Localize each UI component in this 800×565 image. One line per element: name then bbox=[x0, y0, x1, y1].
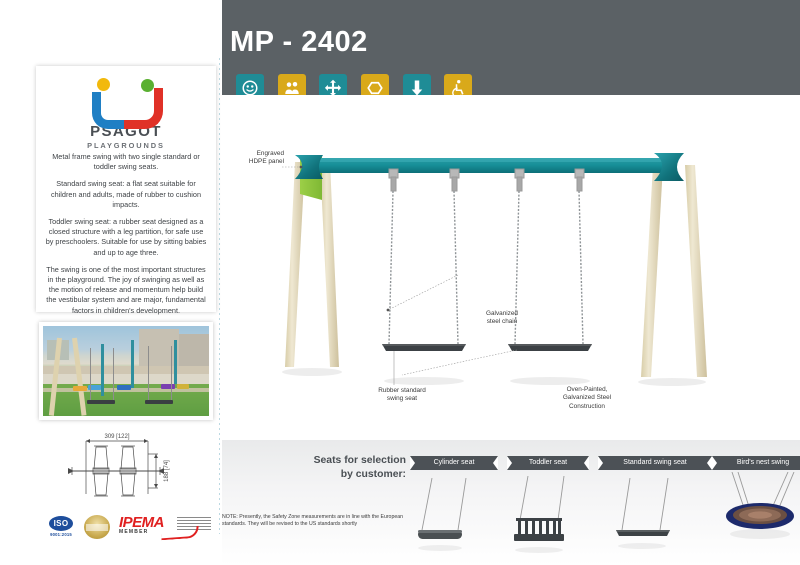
hanger bbox=[515, 169, 524, 191]
leader-dot bbox=[300, 166, 303, 169]
seats-section-title: Seats for selection by customer: bbox=[286, 454, 406, 482]
swing-structure-graphic bbox=[222, 95, 800, 440]
description-paragraph: The swing is one of the most important s… bbox=[45, 265, 207, 316]
seat-option-label: Toddler seat bbox=[529, 459, 567, 466]
callout-steel-chain: Galvanized steel chain bbox=[472, 310, 532, 327]
photo-seat bbox=[87, 400, 115, 404]
callout-line: Galvanized Steel bbox=[563, 394, 611, 401]
leader-line-chain bbox=[388, 275, 458, 310]
photo-post bbox=[174, 340, 177, 384]
photo-mat bbox=[177, 384, 189, 389]
callout-line: Construction bbox=[569, 403, 605, 410]
hanger bbox=[389, 169, 398, 191]
callout-line: Oven-Painted, bbox=[567, 386, 608, 393]
photo-chain bbox=[90, 348, 91, 400]
logo-blue-hook-icon bbox=[92, 92, 128, 129]
photo-mat bbox=[161, 384, 175, 389]
photo-building bbox=[139, 329, 179, 367]
right-a-frame bbox=[641, 165, 707, 377]
description-paragraph: Toddler swing seat: a rubber seat design… bbox=[45, 217, 207, 258]
iso-logo: ISO 9001:2015 bbox=[47, 516, 75, 538]
photo-post bbox=[101, 344, 104, 396]
note-text: NOTE: Presently, the Safety Zone measure… bbox=[222, 514, 408, 528]
logo-red-hook-icon bbox=[124, 88, 163, 129]
photo-chain bbox=[113, 348, 114, 400]
seats-title-line-2: by customer: bbox=[341, 469, 406, 480]
photo-post bbox=[131, 340, 134, 388]
birds-nest-swing-thumbnail bbox=[704, 472, 800, 558]
seat-option-birdsnest[interactable]: Bird's nest swing bbox=[712, 456, 800, 470]
iso-standard-label: 9001:2015 bbox=[47, 532, 75, 537]
leader-dot bbox=[387, 309, 390, 312]
photo-mat bbox=[117, 385, 131, 390]
photo-mat bbox=[73, 386, 87, 391]
seat-option-standard[interactable]: Standard swing seat bbox=[598, 456, 712, 470]
seat-option-cylinder[interactable]: Cylinder seat bbox=[410, 456, 498, 470]
seats-title-line-1: Seats for selection bbox=[314, 455, 406, 466]
ipema-logo: IPEMA MEMBER bbox=[119, 515, 211, 539]
gold-seal-logo bbox=[84, 515, 110, 539]
sidebar-divider bbox=[219, 58, 220, 534]
drawing-width-label: 309 [122] bbox=[104, 434, 129, 440]
description-paragraph: Metal frame swing with two single standa… bbox=[45, 152, 207, 172]
installation-photo bbox=[39, 322, 213, 420]
leader-line-chain-area bbox=[402, 350, 517, 375]
toddler-seat-thumbnail bbox=[500, 476, 596, 558]
certification-logos: ISO 9001:2015 IPEMA MEMBER bbox=[47, 512, 217, 542]
description-paragraph: Standard swing seat: a flat seat suitabl… bbox=[45, 179, 207, 210]
logo-mark-icon bbox=[88, 78, 164, 120]
iso-label: ISO bbox=[49, 516, 73, 531]
ipema-swoosh-icon bbox=[161, 526, 200, 541]
product-illustration: Engraved HDPE panel Galvanized steel cha… bbox=[222, 95, 800, 440]
hanger bbox=[450, 169, 459, 191]
callout-line: steel chain bbox=[487, 318, 518, 325]
seat-option-label: Bird's nest swing bbox=[737, 459, 789, 466]
seat-option-label: Standard swing seat bbox=[623, 459, 686, 466]
product-description: Metal frame swing with two single standa… bbox=[45, 152, 207, 323]
hanger bbox=[575, 169, 584, 191]
photo-wall bbox=[43, 366, 209, 374]
brand-tagline: PLAYGROUNDS bbox=[36, 141, 216, 150]
seats-selection-section: Seats for selection by customer: Cylinde… bbox=[222, 440, 800, 565]
standard-swing-seat-thumbnail bbox=[596, 478, 702, 558]
swing-seat bbox=[508, 344, 592, 351]
callout-line: Galvanized bbox=[486, 310, 518, 317]
seat-option-toddler[interactable]: Toddler seat bbox=[507, 456, 589, 470]
callout-rubber-seat: Rubber standard swing seat bbox=[364, 387, 440, 404]
logo-yellow-dot-icon bbox=[97, 78, 110, 91]
photo-path bbox=[43, 374, 209, 384]
callout-steel-construction: Oven-Painted, Galvanized Steel Construct… bbox=[544, 386, 630, 411]
technical-drawing: 309 [122] 188 [74] bbox=[52, 432, 202, 510]
photo-chain bbox=[148, 346, 149, 400]
product-sheet-page: MP - 2402 PSAGOT PLAYGROUNDS Metal frame… bbox=[0, 0, 800, 565]
drawing-depth-label: 188 [74] bbox=[164, 460, 170, 482]
photo-seat bbox=[145, 400, 173, 404]
seat-option-label: Cylinder seat bbox=[434, 459, 475, 466]
callout-line: Engraved bbox=[257, 150, 284, 157]
swing-seat bbox=[382, 344, 466, 351]
cylinder-seat-thumbnail bbox=[400, 478, 496, 558]
callout-line: swing seat bbox=[387, 395, 417, 402]
callout-hdpe-panel: Engraved HDPE panel bbox=[228, 150, 284, 167]
callout-line: HDPE panel bbox=[249, 158, 284, 165]
photo-content bbox=[43, 326, 209, 416]
brand-logo: PSAGOT PLAYGROUNDS bbox=[36, 78, 216, 148]
photo-chain bbox=[171, 346, 172, 400]
page-title: MP - 2402 bbox=[230, 26, 368, 59]
info-card: PSAGOT PLAYGROUNDS Metal frame swing wit… bbox=[36, 66, 216, 312]
callout-line: Rubber standard bbox=[378, 387, 426, 394]
safety-zone-note: NOTE: Presently, the Safety Zone measure… bbox=[222, 514, 408, 528]
photo-building bbox=[179, 334, 209, 367]
